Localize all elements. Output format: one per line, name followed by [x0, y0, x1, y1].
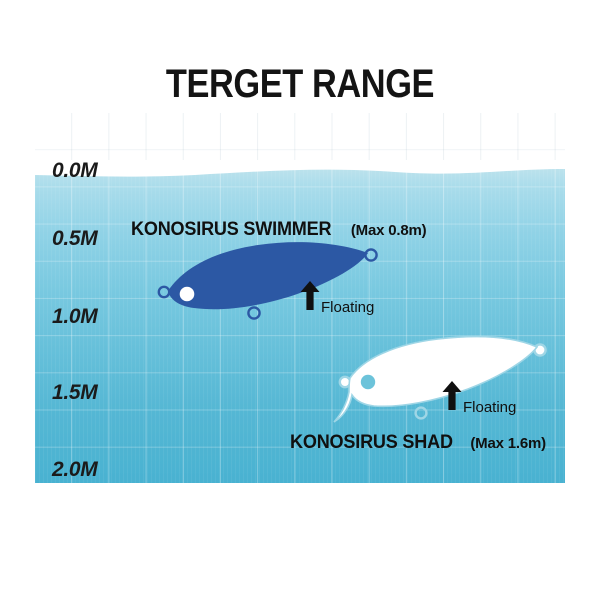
lure-label-konosirus-shad: KONOSIRUS SHAD(Max 1.6m) — [290, 432, 546, 454]
lure-max-depth-konosirus-swimmer: (Max 0.8m) — [351, 222, 427, 239]
floating-text-konosirus-swimmer: Floating — [321, 299, 374, 316]
depth-label-1-5m: 1.5M — [52, 382, 98, 403]
floating-mark-konosirus-swimmer: Floating — [300, 281, 374, 315]
depth-label-0-0m: 0.0M — [52, 160, 98, 181]
lure-label-konosirus-swimmer: KONOSIRUS SWIMMER(Max 0.8m) — [131, 219, 426, 241]
tail-hook-ring — [365, 249, 376, 260]
lure-max-depth-konosirus-shad: (Max 1.6m) — [470, 435, 546, 452]
depth-label-1-0m: 1.0M — [52, 306, 98, 327]
arrow-up-icon — [300, 281, 320, 315]
belly-hook-ring — [416, 408, 427, 419]
floating-text-konosirus-shad: Floating — [463, 399, 516, 416]
depth-label-2-0m: 2.0M — [52, 459, 98, 480]
lure-eye — [361, 375, 375, 389]
belly-hook-ring — [248, 307, 259, 318]
lure-illustration-konosirus-shad — [318, 334, 553, 424]
lure-name-konosirus-swimmer: KONOSIRUS SWIMMER — [131, 219, 331, 241]
floating-mark-konosirus-shad: Floating — [442, 381, 516, 415]
depth-label-0-5m: 0.5M — [52, 228, 98, 249]
water-surface-wave — [35, 160, 565, 184]
page-title: TERGET RANGE — [42, 62, 558, 106]
target-range-infographic: TERGET RANGE — [0, 0, 600, 600]
lure-eye — [180, 287, 195, 302]
arrow-up-icon — [442, 381, 462, 415]
nose-hook-ring — [159, 287, 169, 297]
lure-name-konosirus-shad: KONOSIRUS SHAD — [290, 432, 453, 454]
